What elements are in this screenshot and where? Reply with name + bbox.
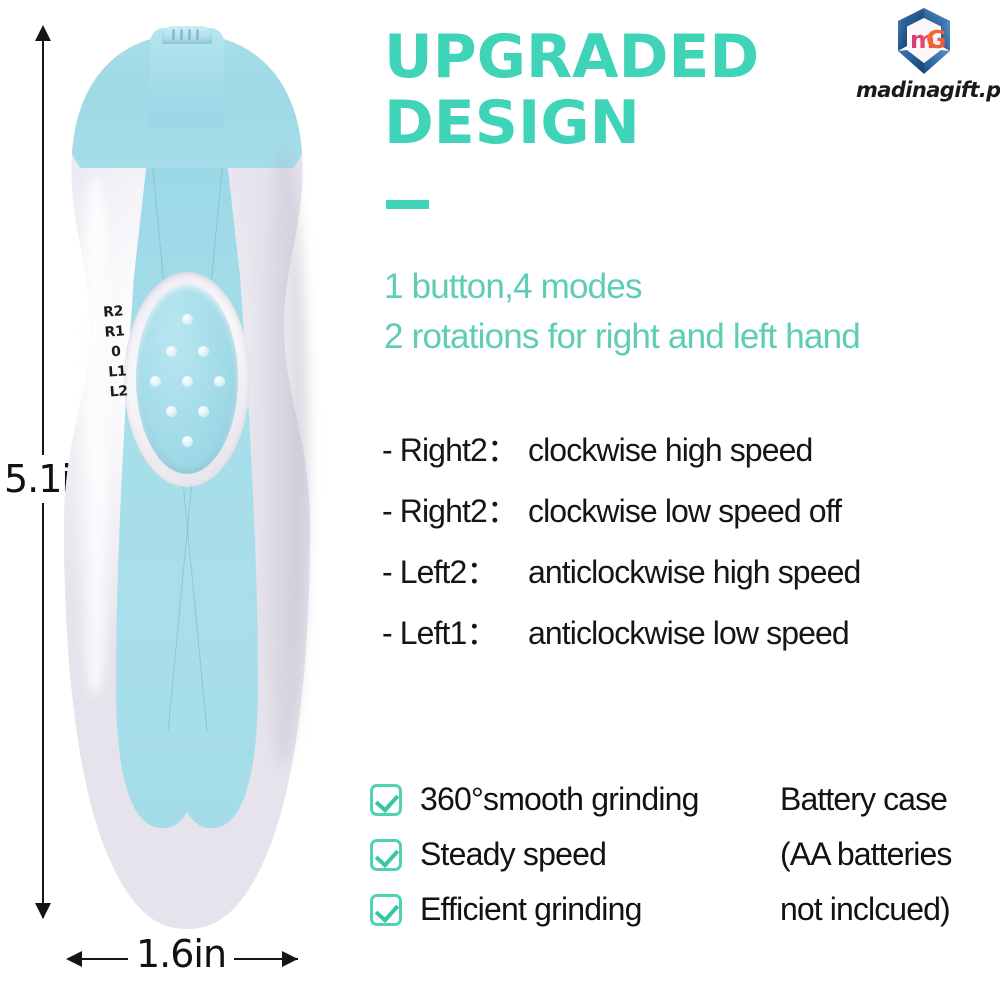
brand-logo[interactable]: m G madinagift.pk: [856, 6, 994, 118]
product-image-panel: 5.1in 1.6in: [0, 0, 370, 1000]
mode-list-item: - Left2：anticlockwise high speed: [382, 542, 1000, 603]
content-panel: UPGRADED DESIGN 1 button,4 modes 2 rotat…: [370, 0, 1000, 1000]
device-mode-label-0: 0: [105, 341, 126, 362]
mode-key: - Left1：: [382, 603, 528, 664]
mode-key: - Left2：: [382, 542, 528, 603]
checkmark-icon: [370, 839, 402, 871]
feature-label: Steady speed: [420, 836, 606, 873]
battery-note: Battery case (AA batteries not inclcued): [780, 772, 1000, 937]
page-title-line-1: UPGRADED: [384, 24, 854, 90]
device-power-button[interactable]: [136, 284, 238, 474]
device-nozzle-head: [162, 26, 212, 44]
nail-trimmer-device-image: R2 R1 0 L1 L2: [62, 26, 312, 931]
device-highlight: [74, 176, 116, 696]
subheading-line-2: 2 rotations for right and left hand: [384, 312, 1000, 362]
mode-description: clockwise low speed off: [528, 493, 841, 529]
battery-note-line-1: Battery case: [780, 772, 1000, 827]
battery-note-line-2: (AA batteries: [780, 827, 1000, 882]
battery-note-line-3: not inclcued): [780, 882, 1000, 937]
feature-list-item: 360°smooth grinding: [370, 772, 770, 827]
feature-list: 360°smooth grinding Steady speed Efficie…: [370, 772, 770, 937]
feature-list-item: Efficient grinding: [370, 882, 770, 937]
subheading-block: 1 button,4 modes 2 rotations for right a…: [384, 262, 1000, 362]
mode-description: anticlockwise low speed: [528, 615, 849, 651]
device-shadow: [258, 146, 308, 766]
feature-label: Efficient grinding: [420, 891, 642, 928]
page-title: UPGRADED DESIGN: [384, 24, 854, 156]
brand-name-label: madinagift.pk: [856, 78, 994, 102]
mode-description: anticlockwise high speed: [528, 554, 860, 590]
mode-list-item: - Right2：clockwise high speed: [382, 420, 1000, 481]
page-title-line-2: DESIGN: [384, 90, 854, 156]
subheading-line-1: 1 button,4 modes: [384, 262, 1000, 312]
svg-text:G: G: [926, 25, 947, 54]
hexagon-logo-icon: m G: [890, 6, 958, 76]
mode-key: - Right2：: [382, 420, 528, 481]
height-arrow-bottom-icon: [35, 903, 51, 919]
device-mode-label-l2: L2: [108, 381, 129, 402]
mode-key: - Right2：: [382, 481, 528, 542]
checkmark-icon: [370, 894, 402, 926]
title-underline-rule: [386, 200, 429, 209]
device-mode-label-r1: R1: [104, 321, 125, 342]
mode-list: - Right2：clockwise high speed - Right2：c…: [382, 420, 1000, 664]
mode-list-item: - Left1：anticlockwise low speed: [382, 603, 1000, 664]
checkmark-icon: [370, 784, 402, 816]
mode-description: clockwise high speed: [528, 432, 812, 468]
width-arrow-right-icon: [282, 951, 298, 967]
feature-list-item: Steady speed: [370, 827, 770, 882]
width-dimension-label: 1.6in: [128, 932, 234, 976]
product-infographic: 5.1in 1.6in: [0, 0, 1000, 1000]
device-mode-label-r2: R2: [103, 301, 124, 322]
feature-label: 360°smooth grinding: [420, 781, 699, 818]
mode-list-item: - Right2：clockwise low speed off: [382, 481, 1000, 542]
device-mode-label-l1: L1: [107, 361, 128, 382]
